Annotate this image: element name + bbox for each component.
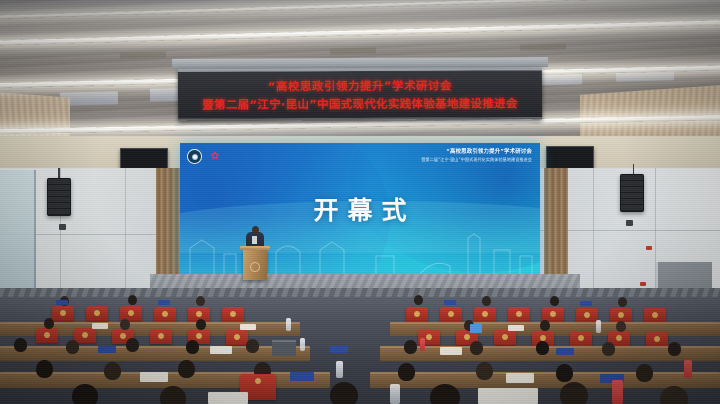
screen-headline-1: “高校思政引领力提升”学术研讨会	[421, 149, 532, 157]
attendee-head	[550, 296, 559, 306]
audience-desk	[370, 372, 720, 388]
banner-line-1: “高校思政引领力提升”学术研讨会	[268, 77, 452, 94]
attendee-head	[186, 340, 199, 354]
water-bottle	[612, 380, 623, 404]
attendee-head	[104, 362, 121, 380]
attendee-head	[398, 363, 415, 381]
auditorium-seat	[222, 307, 244, 322]
attendee-head	[246, 339, 259, 353]
auditorium-seat	[644, 308, 666, 323]
attendee-head	[616, 321, 626, 332]
desk-paper	[478, 388, 538, 404]
speaker-shirt	[252, 236, 257, 244]
attendee-head	[66, 340, 79, 354]
attendee-head	[660, 386, 688, 404]
auditorium-seat	[508, 307, 530, 322]
auditorium-seat	[86, 306, 108, 321]
desk-folder	[56, 300, 68, 305]
auditorium-seat	[36, 328, 58, 343]
attendee-head	[126, 338, 139, 352]
desk-paper	[508, 325, 524, 331]
wall-marker	[640, 282, 646, 286]
attendee-head	[330, 382, 358, 404]
podium-top	[240, 246, 270, 250]
auditorium-seat	[570, 331, 592, 346]
line-array-speaker-left	[47, 178, 71, 216]
attendee-head	[476, 362, 493, 380]
auditorium-seat	[406, 307, 428, 322]
university-emblem-dark-icon	[187, 149, 202, 164]
desk-folder	[98, 346, 116, 353]
water-bottle	[300, 338, 305, 351]
desk-folder	[158, 300, 170, 305]
attendee-head	[602, 342, 615, 356]
water-bottle	[596, 320, 601, 333]
desk-paper	[208, 392, 248, 404]
line-array-speaker-right	[620, 174, 644, 212]
auditorium-seat	[494, 330, 516, 345]
attendee-head	[404, 340, 417, 354]
attendee-head	[470, 341, 483, 355]
auditorium-seat	[226, 330, 248, 345]
auditorium-seat	[576, 308, 598, 323]
attendee-head	[14, 338, 27, 352]
podium-emblem	[250, 262, 260, 272]
auditorium-seat	[154, 307, 176, 322]
water-bottle	[684, 360, 692, 378]
attendee-head	[430, 384, 460, 404]
auditorium-seat	[150, 329, 172, 344]
attendee-head	[536, 341, 549, 355]
ceiling-vent	[120, 52, 166, 59]
auditorium-seat	[440, 307, 462, 322]
attendee-head	[120, 319, 130, 330]
laptop[interactable]	[272, 340, 296, 356]
surveillance-camera-right	[626, 220, 633, 226]
ceiling-vent	[520, 44, 566, 51]
water-bottle	[420, 338, 425, 351]
auditorium-scene: “高校思政引领力提升”学术研讨会 暨第二届“江宁·昆山”中国式现代化实践体验基地…	[0, 0, 720, 404]
desk-paper	[210, 346, 232, 354]
attendee-head	[560, 382, 588, 404]
auditorium-seat	[474, 307, 496, 322]
desk-paper	[140, 372, 168, 382]
aisle-floor	[0, 288, 720, 297]
water-bottle	[286, 318, 291, 331]
attendee-head	[556, 364, 573, 382]
attendee-head	[414, 295, 423, 305]
wall-marker	[646, 246, 652, 250]
screen-logo-group: ✿	[187, 149, 221, 164]
desk-paper	[92, 323, 108, 329]
podium	[243, 249, 267, 280]
attendee-head	[636, 364, 653, 382]
desk-tablet[interactable]	[470, 324, 482, 333]
water-bottle	[336, 361, 343, 378]
attendee-head	[668, 342, 681, 356]
speaker-head	[252, 226, 259, 234]
attendee-head	[196, 319, 206, 330]
desk-folder	[290, 372, 314, 381]
audience-area	[0, 288, 720, 404]
attendee-head	[44, 318, 54, 329]
auditorium-seat	[646, 332, 668, 347]
desk-paper	[240, 324, 256, 330]
attendee-head	[72, 384, 98, 404]
attendee-head	[128, 295, 137, 305]
attendee-head	[36, 360, 53, 378]
attendee-head	[482, 296, 491, 306]
conference-banner: “高校思政引领力提升”学术研讨会 暨第二届“江宁·昆山”中国式现代化实践体验基地…	[178, 67, 542, 121]
audience-desk	[0, 346, 310, 361]
attendee-head	[178, 360, 195, 378]
attendee-head	[160, 386, 186, 404]
attendee-head	[618, 297, 627, 307]
screen-header-text: “高校思政引领力提升”学术研讨会 暨第二届“江宁·昆山”中国式现代化实践体验基地…	[421, 149, 532, 163]
surveillance-camera-left	[59, 224, 66, 230]
desk-paper	[440, 347, 462, 355]
auditorium-seat	[74, 328, 96, 343]
skyline-illustration	[180, 232, 540, 274]
screen-headline-2: 暨第二届“江宁·昆山”中国式现代化实践体验基地建设推进会	[421, 157, 532, 163]
water-bottle	[390, 384, 400, 404]
screen-main-title: 开幕式	[180, 191, 540, 227]
ceiling-vent	[330, 48, 376, 55]
led-stage-screen: ✿ “高校思政引领力提升”学术研讨会 暨第二届“江宁·昆山”中国式现代化实践体验…	[180, 143, 540, 276]
attendee-head	[540, 320, 550, 331]
desk-folder	[580, 301, 592, 306]
desk-folder	[556, 348, 574, 355]
banner-line-2: 暨第二届“江宁·昆山”中国式现代化实践体验基地建设推进会	[202, 95, 517, 112]
attendee-head	[196, 296, 205, 306]
university-emblem-red-icon: ✿	[209, 150, 221, 163]
auditorium-seat	[52, 306, 74, 321]
desk-folder	[444, 300, 456, 305]
desk-paper	[506, 373, 534, 383]
desk-folder	[330, 346, 348, 353]
